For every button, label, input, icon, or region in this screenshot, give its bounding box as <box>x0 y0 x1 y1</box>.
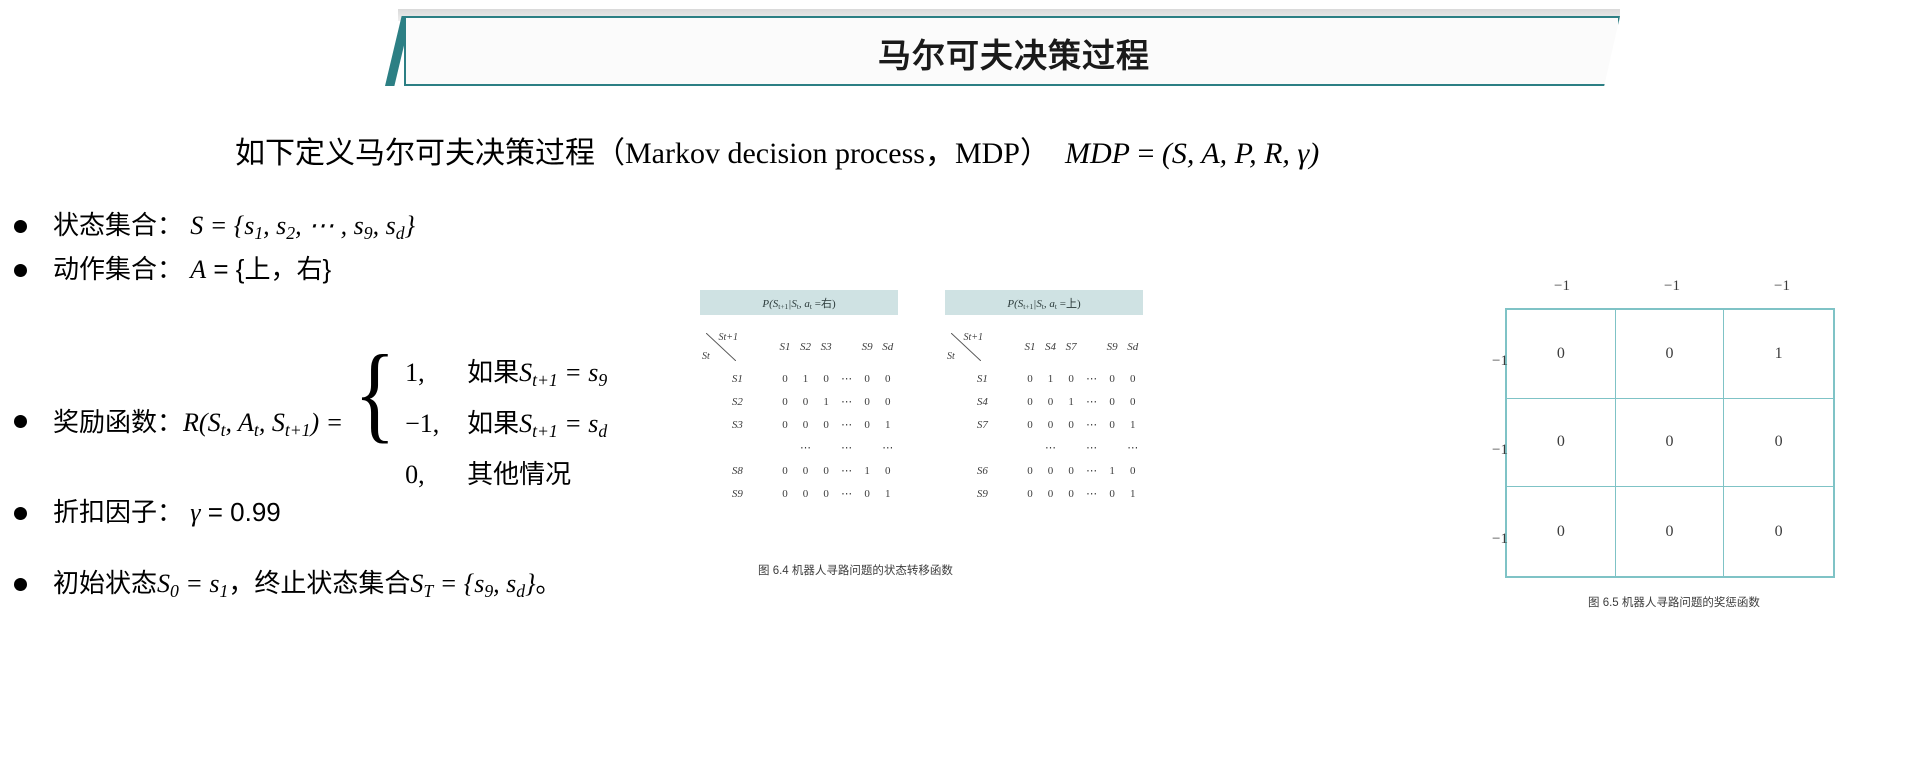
col-header: S7 <box>1061 327 1082 367</box>
bullet-initial-state-text: 初始状态S0 = s1，终止状态集合ST = {s9, sd}。 <box>53 566 562 604</box>
grid-cell: 0 <box>1616 399 1725 488</box>
cell <box>1102 436 1123 459</box>
reward-case-1-condition: 如果St+1 = s9 <box>467 352 607 391</box>
grid-right-label-1: −1 <box>1492 353 1508 370</box>
reward-label-cn: 奖励 <box>53 407 105 437</box>
grid-top-label-3: −1 <box>1774 278 1790 295</box>
intro-comma: ， <box>925 137 955 170</box>
bullet-dot-icon <box>14 578 27 591</box>
initial-st: S <box>410 569 423 598</box>
state-set-label: 状态集合： <box>53 210 183 240</box>
discount-eq: = <box>201 497 231 527</box>
cell: 1 <box>857 459 878 482</box>
cell: 0 <box>816 413 837 436</box>
action-set-rhs: {上，右} <box>236 254 331 284</box>
left-curly-brace-icon: { <box>354 352 395 491</box>
table-row-ellipsis: ⋯ ⋯ ⋯ <box>700 436 898 459</box>
table-row: S1 0 1 0 ⋯ 0 0 <box>700 367 898 390</box>
cell: 0 <box>775 367 796 390</box>
cell: 0 <box>1020 482 1041 505</box>
row-label: S7 <box>945 413 1020 436</box>
table-row: S3 0 0 0 ⋯ 0 1 <box>700 413 898 436</box>
bullet-state-set-text: 状态集合： S = {s1, s2, ⋯ , s9, sd} <box>53 208 415 246</box>
initial-s0: S <box>157 569 170 598</box>
state-set-sub1: 1 <box>254 223 263 243</box>
table-row: S7 0 0 0 ⋯ 0 1 <box>945 413 1143 436</box>
reward-case-2-cond-pre: 如果 <box>467 408 519 438</box>
cell: 0 <box>1020 413 1041 436</box>
grid-cell: 0 <box>1616 310 1725 399</box>
initial-set-subd: d <box>516 581 525 601</box>
col-header: S1 <box>775 327 796 367</box>
cell: ⋯ <box>795 436 816 459</box>
initial-set-sub9: 9 <box>484 581 493 601</box>
grid-top-label-2: −1 <box>1664 278 1680 295</box>
cell <box>775 436 796 459</box>
col-header: S1 <box>1020 327 1041 367</box>
t1-header-pre: P(S <box>762 298 778 310</box>
reward-grid: 0 0 1 0 0 0 0 0 0 <box>1505 308 1835 578</box>
title-bar: 马尔可夫决策过程 <box>404 16 1620 86</box>
reward-case-1-value: 1, <box>405 358 467 388</box>
cell: ⋯ <box>1122 436 1143 459</box>
transition-matrix-up: St+1 St S1 S4 S7 S9 Sd S1 0 1 <box>945 327 1143 505</box>
cell: 1 <box>795 367 816 390</box>
cell: 0 <box>857 367 878 390</box>
col-header: Sd <box>877 327 898 367</box>
action-set-lhs: A <box>190 255 206 284</box>
initial-s0-sub: 0 <box>170 581 179 601</box>
cell: 1 <box>1122 413 1143 436</box>
bullet-discount-factor: 折扣因子： γ = 0.99 <box>14 495 774 530</box>
title-banner: 马尔可夫决策过程 <box>385 13 1620 86</box>
row-label: S9 <box>945 482 1020 505</box>
cell: ⋯ <box>1081 482 1102 505</box>
cell: 0 <box>1040 459 1061 482</box>
cell: 0 <box>1102 482 1123 505</box>
cell <box>857 436 878 459</box>
cell: 0 <box>795 390 816 413</box>
bullet-dot-icon <box>14 415 27 428</box>
cell: 0 <box>1061 482 1082 505</box>
col-header: S4 <box>1040 327 1061 367</box>
cell <box>816 436 837 459</box>
cell: 0 <box>775 390 796 413</box>
cell: 0 <box>1122 367 1143 390</box>
cell: 0 <box>1122 459 1143 482</box>
corner-cell: St+1 St <box>945 327 1020 367</box>
initial-st-sub: T <box>423 581 433 601</box>
initial-s1: s <box>209 569 219 598</box>
cell: ⋯ <box>1040 436 1061 459</box>
cell: 0 <box>816 482 837 505</box>
reward-case-2: −1, 如果St+1 = sd <box>405 403 607 442</box>
reward-case-1-cond-res: s <box>588 358 598 387</box>
grid-top-label-1: −1 <box>1554 278 1570 295</box>
discount-label: 折扣因子： <box>53 497 183 527</box>
transition-table-up: P(St+1|St, at =上) St+1 St S1 S4 S7 <box>945 290 1143 505</box>
grid-cell: 0 <box>1724 399 1833 488</box>
figure-6-4-caption: 图 6.4 机器人寻路问题的状态转移函数 <box>758 562 953 578</box>
initial-period: 。 <box>536 568 562 598</box>
cell: 1 <box>1102 459 1123 482</box>
cell: 0 <box>1040 482 1061 505</box>
col-header <box>836 327 857 367</box>
cell: 1 <box>1122 482 1143 505</box>
intro-abbr: MDP <box>955 137 1020 170</box>
col-header: S9 <box>1102 327 1123 367</box>
reward-case-2-value: −1, <box>405 409 467 439</box>
action-set-label: 动作集合： <box>53 254 183 284</box>
initial-eq1: = <box>179 569 210 598</box>
cell: 0 <box>816 459 837 482</box>
col-header <box>1081 327 1102 367</box>
bullet-list-lower: 折扣因子： γ = 0.99 初始状态S0 = s1，终止状态集合ST = {s… <box>14 495 774 640</box>
table-row: S1 0 1 0 ⋯ 0 0 <box>945 367 1143 390</box>
row-label: S6 <box>945 459 1020 482</box>
reward-case-3: 0, 其他情况 <box>405 454 607 491</box>
cell: ⋯ <box>1081 436 1102 459</box>
t2-header-pre: P(S <box>1007 298 1023 310</box>
state-set-dots: , ⋯ , s <box>295 211 364 240</box>
cell: 0 <box>1102 367 1123 390</box>
grid-cell: 0 <box>1616 487 1725 576</box>
grid-cell: 0 <box>1507 310 1616 399</box>
cell: 1 <box>816 390 837 413</box>
t2-header-bar: |S <box>1033 298 1042 310</box>
cell: 0 <box>1122 390 1143 413</box>
initial-set-close: } <box>525 569 535 598</box>
page-title: 马尔可夫决策过程 <box>406 18 1622 88</box>
bullet-initial-state: 初始状态S0 = s1，终止状态集合ST = {s9, sd}。 <box>14 566 774 604</box>
bullet-dot-icon <box>14 220 27 233</box>
table-row: S4 0 0 1 ⋯ 0 0 <box>945 390 1143 413</box>
bullet-action-set-text: 动作集合： A = {上，右} <box>53 252 331 287</box>
grid-cell: 0 <box>1507 399 1616 488</box>
cell <box>1020 436 1041 459</box>
reward-lhs-sub-t3: t+1 <box>285 420 311 440</box>
intro-paren-close: ） <box>1020 137 1050 170</box>
reward-case-1-cond-res-sub: 9 <box>598 370 607 390</box>
reward-case-2-condition: 如果St+1 = sd <box>467 403 607 442</box>
bullet-dot-icon <box>14 264 27 277</box>
intro-en-term: Markov decision process <box>625 137 925 170</box>
cell: ⋯ <box>836 459 857 482</box>
row-label: S1 <box>700 367 775 390</box>
initial-set-mid: , s <box>493 569 516 598</box>
cell: 0 <box>1020 459 1041 482</box>
transition-table-right-header: P(St+1|St, at =右) <box>700 290 898 315</box>
reward-case-2-cond-var: S <box>519 409 532 438</box>
table-row: S6 0 0 0 ⋯ 1 0 <box>945 459 1143 482</box>
cell: 0 <box>857 482 878 505</box>
cell: 0 <box>1061 413 1082 436</box>
reward-label-cn2: 函数： <box>105 407 183 437</box>
reward-lhs-close: ) = <box>311 408 344 437</box>
initial-label2: 终止状态集合 <box>254 568 410 598</box>
reward-case-1-cond-var: S <box>519 358 532 387</box>
row-label: S1 <box>945 367 1020 390</box>
intro-formula-eq: = <box>1130 137 1162 170</box>
slide-root: 马尔可夫决策过程 如下定义马尔可夫决策过程（Markov decision pr… <box>0 0 1925 781</box>
reward-lhs-mid2: , S <box>259 408 285 437</box>
cell: 0 <box>877 367 898 390</box>
corner-bottom-label: St <box>702 351 710 362</box>
figure-6-5-caption: 图 6.5 机器人寻路问题的奖惩函数 <box>1588 594 1760 610</box>
intro-formula-lhs: MDP <box>1065 137 1130 170</box>
cell: 0 <box>1020 367 1041 390</box>
reward-case-lines: 1, 如果St+1 = s9 −1, 如果St+1 = sd 0, 其他情况 <box>405 352 607 491</box>
reward-case-2-cond-sub: t+1 <box>532 421 558 441</box>
table-header-row: St+1 St S1 S4 S7 S9 Sd <box>945 327 1143 367</box>
action-set-eq: = <box>206 254 236 284</box>
cell: ⋯ <box>836 482 857 505</box>
cell: 0 <box>1061 459 1082 482</box>
reward-case-2-cond-eq: = <box>558 409 589 438</box>
initial-set: {s <box>464 569 485 598</box>
cell: ⋯ <box>1081 367 1102 390</box>
cell: 0 <box>795 459 816 482</box>
bullet-action-set: 动作集合： A = {上，右} <box>14 252 714 287</box>
bullet-reward-function: 奖励函数：R(St, At, St+1) = { 1, 如果St+1 = s9 … <box>14 352 607 491</box>
reward-case-3-condition: 其他情况 <box>467 454 571 491</box>
col-header: Sd <box>1122 327 1143 367</box>
table-row: S9 0 0 0 ⋯ 0 1 <box>700 482 898 505</box>
col-header: S3 <box>816 327 837 367</box>
grid-right-label-2: −1 <box>1492 442 1508 459</box>
cell: 0 <box>775 459 796 482</box>
row-label <box>700 436 775 459</box>
cell: 1 <box>877 482 898 505</box>
reward-case-2-cond-res-sub: d <box>598 421 607 441</box>
initial-label: 初始状态 <box>53 568 157 598</box>
bullet-list-upper: 状态集合： S = {s1, s2, ⋯ , s9, sd} 动作集合： A =… <box>14 208 714 293</box>
cell: ⋯ <box>877 436 898 459</box>
cell: ⋯ <box>836 413 857 436</box>
initial-comma: ， <box>228 568 254 598</box>
bullet-state-set: 状态集合： S = {s1, s2, ⋯ , s9, sd} <box>14 208 714 246</box>
t2-header-sub1: t+1 <box>1023 302 1033 311</box>
t1-header-sub1: t+1 <box>778 302 788 311</box>
cell: 1 <box>877 413 898 436</box>
reward-case-2-cond-res: s <box>588 409 598 438</box>
t1-header-mid: , a <box>799 298 810 310</box>
corner-cell: St+1 St <box>700 327 775 367</box>
table-row: S2 0 0 1 ⋯ 0 0 <box>700 390 898 413</box>
reward-case-1-cond-pre: 如果 <box>467 357 519 387</box>
reward-case-1: 1, 如果St+1 = s9 <box>405 352 607 391</box>
cell: ⋯ <box>1081 413 1102 436</box>
table-row: S9 0 0 0 ⋯ 0 1 <box>945 482 1143 505</box>
reward-cases-block: { 1, 如果St+1 = s9 −1, 如果St+1 = sd 0, 其他情况 <box>349 352 607 491</box>
intro-formula-rhs: (S, A, P, R, γ) <box>1162 137 1319 170</box>
t1-header-bar: |S <box>788 298 797 310</box>
table-header-row: St+1 St S1 S2 S3 S9 Sd <box>700 327 898 367</box>
state-set-mid2: , s <box>373 211 396 240</box>
table-row-ellipsis: ⋯ ⋯ ⋯ <box>945 436 1143 459</box>
row-label: S9 <box>700 482 775 505</box>
grid-cell: 0 <box>1724 487 1833 576</box>
diagonal-slash-icon <box>706 333 736 361</box>
reward-lhs: R(S <box>183 408 221 437</box>
cell <box>1061 436 1082 459</box>
cell: 0 <box>877 390 898 413</box>
state-set-sub2: 2 <box>286 223 295 243</box>
row-label: S2 <box>700 390 775 413</box>
row-label: S4 <box>945 390 1020 413</box>
diagonal-slash-icon <box>951 333 981 361</box>
reward-lhs-mid: , A <box>226 408 254 437</box>
cell: 0 <box>1040 390 1061 413</box>
bullet-dot-icon <box>14 507 27 520</box>
transition-table-up-header: P(St+1|St, at =上) <box>945 290 1143 315</box>
col-header: S2 <box>795 327 816 367</box>
cell: ⋯ <box>836 367 857 390</box>
table-row: S8 0 0 0 ⋯ 1 0 <box>700 459 898 482</box>
cell: 1 <box>1061 390 1082 413</box>
col-header: S9 <box>857 327 878 367</box>
reward-case-1-cond-sub: t+1 <box>532 370 558 390</box>
reward-function-label: 奖励函数：R(St, At, St+1) = <box>53 402 343 441</box>
discount-symbol: γ <box>190 498 200 527</box>
intro-paren-open: （ <box>595 137 625 170</box>
row-label: S8 <box>700 459 775 482</box>
transition-matrix-right: St+1 St S1 S2 S3 S9 Sd S1 0 1 <box>700 327 898 505</box>
cell: 0 <box>775 413 796 436</box>
state-set-sub9: 9 <box>364 223 373 243</box>
cell: 0 <box>816 367 837 390</box>
cell: ⋯ <box>836 436 857 459</box>
cell: 0 <box>1020 390 1041 413</box>
cell: ⋯ <box>1081 390 1102 413</box>
row-label: S3 <box>700 413 775 436</box>
cell: ⋯ <box>836 390 857 413</box>
reward-case-3-value: 0, <box>405 460 467 490</box>
reward-case-1-cond-eq: = <box>558 358 589 387</box>
cell: 0 <box>795 482 816 505</box>
t2-header-mid: , a <box>1044 298 1055 310</box>
cell: 0 <box>795 413 816 436</box>
discount-value: 0.99 <box>230 497 281 527</box>
cell: 0 <box>1102 390 1123 413</box>
cell: 0 <box>857 413 878 436</box>
grid-cell: 1 <box>1724 310 1833 399</box>
t1-header-eq: =右) <box>812 298 836 310</box>
cell: 0 <box>1040 413 1061 436</box>
cell: 0 <box>877 459 898 482</box>
intro-line: 如下定义马尔可夫决策过程（Markov decision process，MDP… <box>235 128 1319 172</box>
state-set-subd: d <box>396 223 405 243</box>
state-set-formula: S = {s <box>190 211 254 240</box>
grid-cell: 0 <box>1507 487 1616 576</box>
cell: ⋯ <box>1081 459 1102 482</box>
cell: 1 <box>1040 367 1061 390</box>
state-set-mid: , s <box>263 211 286 240</box>
cell: 0 <box>1102 413 1123 436</box>
bullet-discount-text: 折扣因子： γ = 0.99 <box>53 495 281 530</box>
intro-cn-lead: 如下定义马尔可夫决策过程 <box>235 137 595 170</box>
cell: 0 <box>1061 367 1082 390</box>
t2-header-eq: =上) <box>1057 298 1081 310</box>
initial-eq2: = <box>433 569 464 598</box>
row-label <box>945 436 1020 459</box>
cell: 0 <box>775 482 796 505</box>
state-set-close: } <box>405 211 415 240</box>
grid-right-label-3: −1 <box>1492 531 1508 548</box>
corner-bottom-label: St <box>947 351 955 362</box>
cell: 0 <box>857 390 878 413</box>
transition-table-right: P(St+1|St, at =右) St+1 St S1 S2 S3 <box>700 290 898 505</box>
